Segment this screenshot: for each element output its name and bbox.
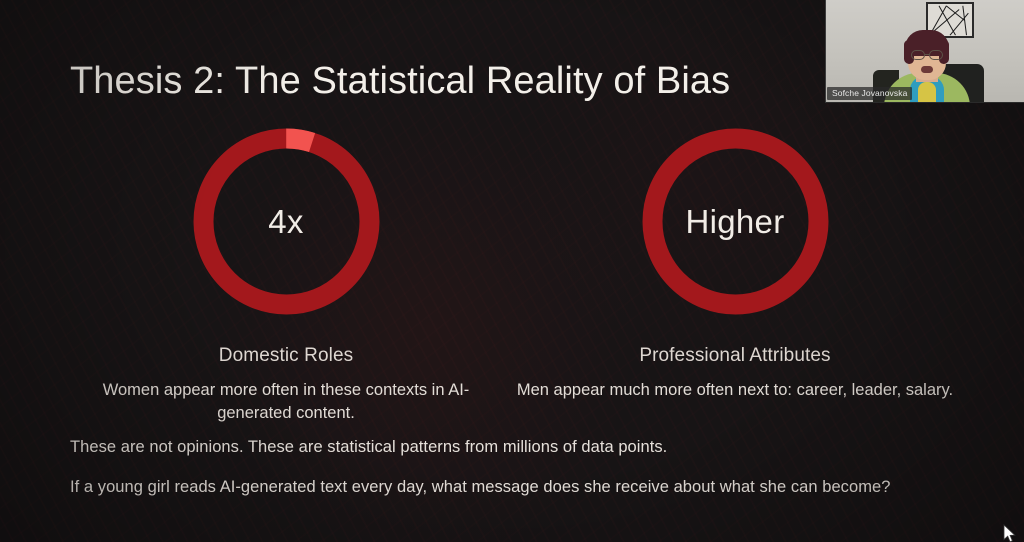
donut-caption-domestic-roles: Domestic Roles [136,345,436,367]
video-participant-tile[interactable]: Sofche Jovanovska [825,0,1024,103]
participant-mouth [921,66,933,73]
eyeglasses-bridge [925,54,929,55]
donut-chart-professional-attributes: Higher [638,124,833,319]
stat-block-professional-attributes: Higher Professional Attributes Men appea… [585,124,885,402]
donut-chart-domestic-roles: 4x [189,124,384,319]
page-title: Thesis 2: The Statistical Reality of Bia… [70,60,730,103]
donut-center-value-domestic-roles: 4x [189,124,384,319]
body-text-line-2: If a young girl reads AI-generated text … [70,478,890,497]
presentation-slide: Thesis 2: The Statistical Reality of Bia… [0,0,1024,542]
participant-name-label: Sofche Jovanovska [827,87,912,100]
donut-center-value-professional-attributes: Higher [638,124,833,319]
donut-description-domestic-roles: Women appear more often in these context… [67,379,505,425]
eyeglasses-right-lens [929,50,943,60]
donut-caption-professional-attributes: Professional Attributes [585,345,885,367]
participant-scarf-accent [918,82,936,103]
mouse-cursor-icon [1003,524,1017,542]
eyeglasses-left-lens [911,50,925,60]
stat-block-domestic-roles: 4x Domestic Roles Women appear more ofte… [136,124,436,425]
donut-description-professional-attributes: Men appear much more often next to: care… [516,379,954,402]
body-text-line-1: These are not opinions. These are statis… [70,438,667,457]
